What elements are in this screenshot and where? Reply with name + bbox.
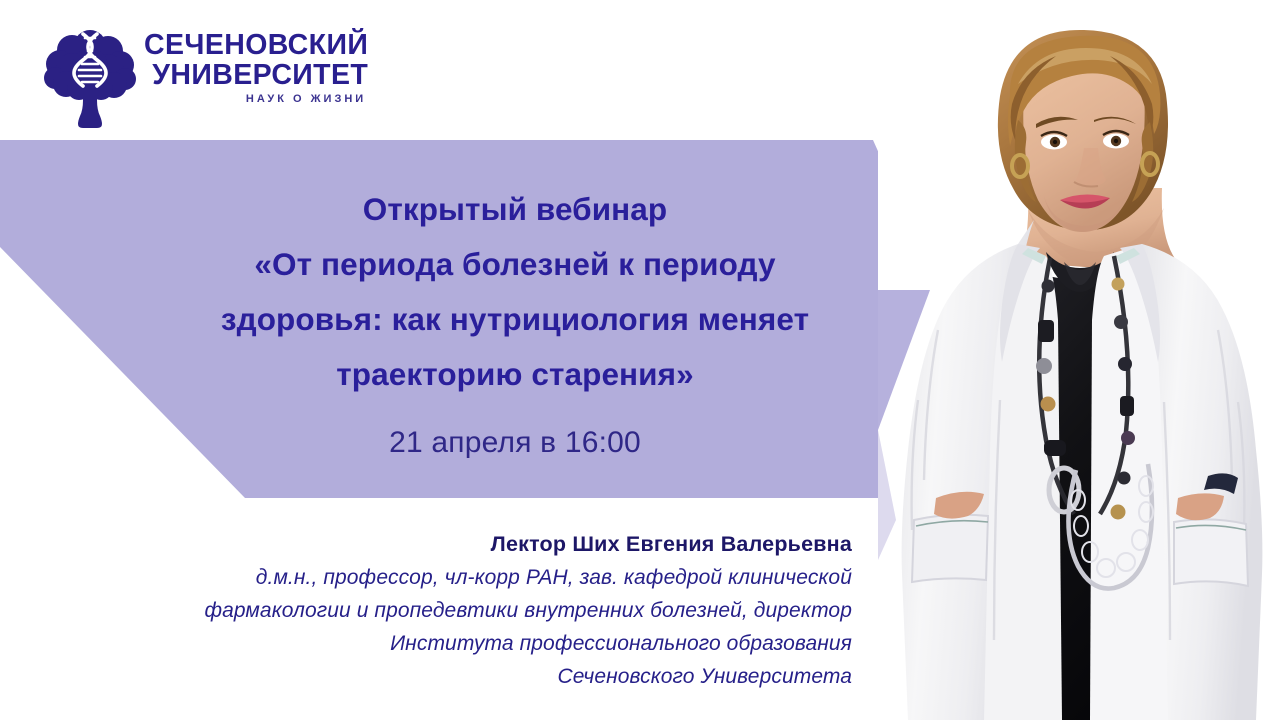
webinar-title: Открытый вебинар «От периода болезней к …	[120, 182, 910, 402]
logo-tagline: НАУК О ЖИЗНИ	[246, 90, 368, 108]
lecturer-detail-2: фармакологии и пропедевтики внутренних б…	[100, 594, 852, 627]
logo-name-line-2: УНИВЕРСИТЕТ	[152, 60, 368, 90]
webinar-datetime: 21 апреля в 16:00	[120, 424, 910, 462]
lecturer-detail-3: Института профессионального образования	[100, 627, 852, 660]
lecturer-detail-1: д.м.н., профессор, чл-корр РАН, зав. каф…	[100, 561, 852, 594]
sechenov-university-logo: СЕЧЕНОВСКИЙ УНИВЕРСИТЕТ НАУК О ЖИЗНИ	[42, 24, 332, 132]
title-line-1: Открытый вебинар	[120, 182, 910, 237]
portrait-illustration	[878, 0, 1280, 720]
title-line-4: траекторию старения»	[120, 347, 910, 402]
title-line-3: здоровья: как нутрициология меняет	[120, 292, 910, 347]
logo-name-line-1: СЕЧЕНОВСКИЙ	[144, 30, 368, 60]
title-line-2: «От периода болезней к периоду	[120, 237, 910, 292]
logo-wordmark: СЕЧЕНОВСКИЙ УНИВЕРСИТЕТ НАУК О ЖИЗНИ	[144, 24, 368, 108]
lecturer-detail-4: Сеченовского Университета	[100, 660, 852, 693]
lecturer-info: Лектор Ших Евгения Валерьевна д.м.н., пр…	[100, 527, 852, 693]
webinar-poster: СЕЧЕНОВСКИЙ УНИВЕРСИТЕТ НАУК О ЖИЗНИ Отк…	[0, 0, 1280, 720]
lecturer-portrait-photo	[878, 0, 1280, 720]
lecturer-name: Лектор Ших Евгения Валерьевна	[100, 527, 852, 561]
tree-dna-logo-icon	[42, 24, 138, 128]
